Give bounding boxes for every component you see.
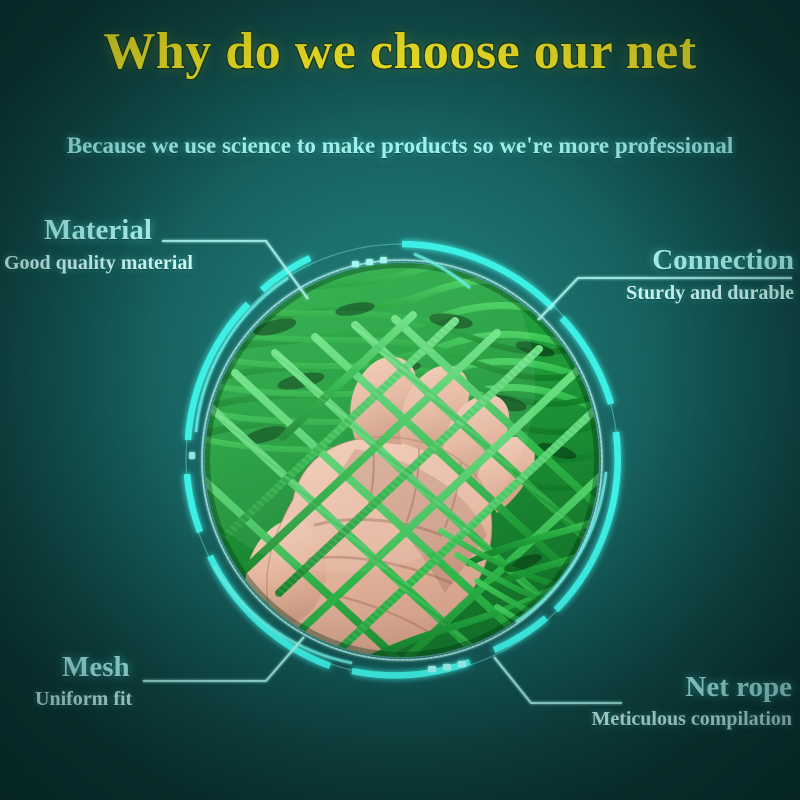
page-subtitle: Because we use science to make products … xyxy=(0,131,800,161)
callout-connection-title: Connection xyxy=(626,243,794,277)
callout-material-title: Material xyxy=(44,213,193,247)
callout-mesh: Mesh Uniform fit xyxy=(62,650,132,712)
callout-mesh-title: Mesh xyxy=(62,650,132,684)
callout-netrope-title: Net rope xyxy=(591,670,792,704)
infographic-page: Why do we choose our net Because we use … xyxy=(0,0,800,800)
callout-netrope: Net rope Meticulous compilation xyxy=(591,670,792,732)
page-title: Why do we choose our net xyxy=(0,22,800,82)
callout-connection-desc: Sturdy and durable xyxy=(626,280,794,306)
callout-mesh-desc: Uniform fit xyxy=(35,686,132,712)
connector-mesh xyxy=(143,637,304,681)
callout-material-desc: Good quality material xyxy=(4,250,193,276)
callout-netrope-desc: Meticulous compilation xyxy=(591,706,792,732)
callout-material: Material Good quality material xyxy=(44,213,193,276)
callout-connection: Connection Sturdy and durable xyxy=(626,243,794,306)
